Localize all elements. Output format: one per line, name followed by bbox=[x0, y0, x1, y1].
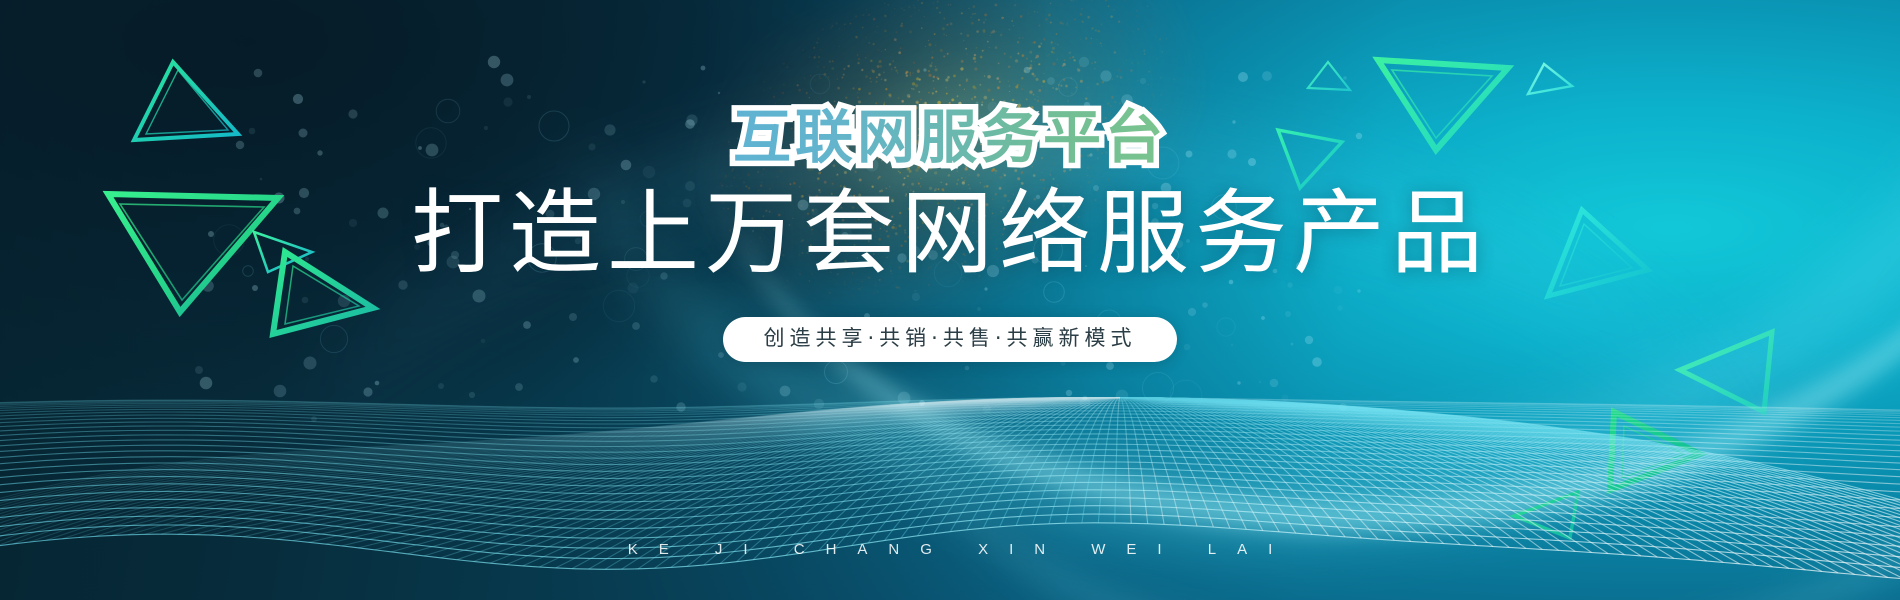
hero-banner: 互联网服务平台 互联网服务平台 打造上万套网络服务产品 创造共享·共销·共售·共… bbox=[0, 0, 1900, 600]
